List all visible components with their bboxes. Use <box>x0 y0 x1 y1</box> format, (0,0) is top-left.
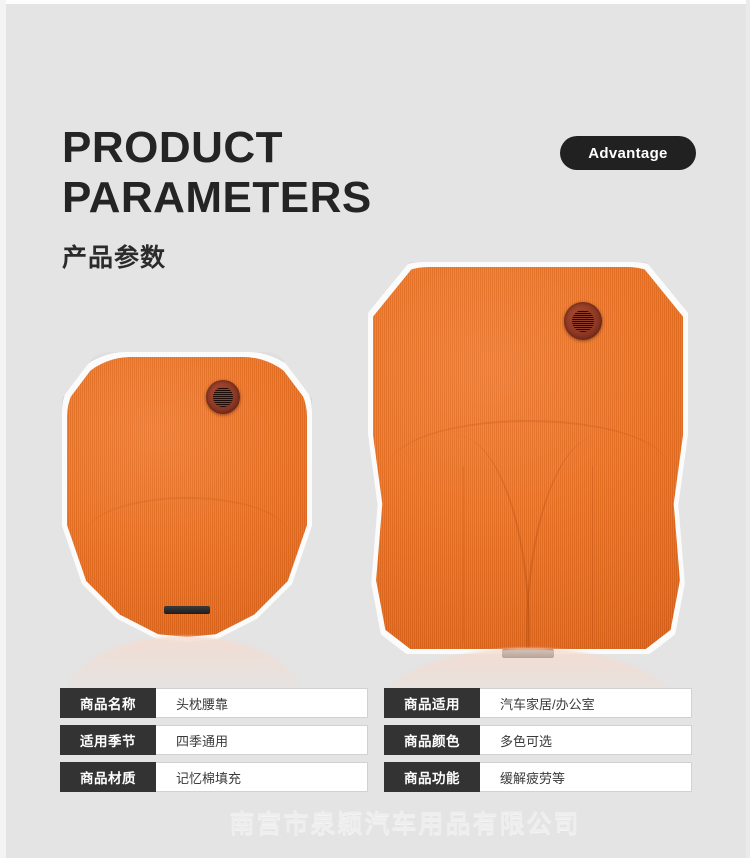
top-edge-strip <box>0 0 750 4</box>
company-watermark: 南宫市泉颖汽车用品有限公司 <box>0 804 750 840</box>
spec-label: 适用季节 <box>60 725 156 755</box>
spec-label: 商品适用 <box>384 688 480 718</box>
cushion-left-center-seam <box>463 466 464 642</box>
pillow-orange-fabric <box>67 357 307 637</box>
product-photo-headrest-pillow <box>62 352 312 642</box>
left-edge-strip <box>0 0 6 858</box>
table-row: 商品材质 记忆棉填充 <box>60 762 368 792</box>
spec-value: 记忆棉填充 <box>156 762 368 792</box>
page-title-block: PRODUCT PARAMETERS 产品参数 <box>62 126 372 274</box>
brand-emblem-icon <box>206 380 240 414</box>
title-subtitle-chinese: 产品参数 <box>62 238 372 274</box>
table-row: 商品适用 汽车家居/办公室 <box>384 688 692 718</box>
brand-emblem-icon <box>564 302 602 340</box>
cushion-orange-fabric <box>373 267 683 649</box>
table-row: 商品功能 缓解疲劳等 <box>384 762 692 792</box>
brand-emblem-core <box>213 387 233 407</box>
spec-column-left: 商品名称 头枕腰靠 适用季节 四季通用 商品材质 记忆棉填充 <box>60 688 368 792</box>
cushion-right-center-seam <box>592 466 593 642</box>
right-edge-strip <box>746 0 750 858</box>
product-photo-lumbar-cushion <box>368 262 688 654</box>
title-line-2: PARAMETERS <box>62 176 372 220</box>
advantage-badge-label: Advantage <box>588 145 667 162</box>
cushion-shoulder-seam <box>389 420 668 514</box>
advantage-badge: Advantage <box>560 136 696 170</box>
table-row: 商品颜色 多色可选 <box>384 725 692 755</box>
specification-table: 商品名称 头枕腰靠 适用季节 四季通用 商品材质 记忆棉填充 商品适用 汽车家居… <box>60 688 692 792</box>
brand-emblem-core <box>572 310 594 332</box>
spec-label: 商品颜色 <box>384 725 480 755</box>
table-row: 适用季节 四季通用 <box>60 725 368 755</box>
spec-value: 汽车家居/办公室 <box>480 688 692 718</box>
product-parameters-page: PRODUCT PARAMETERS 产品参数 Advantage <box>0 0 750 858</box>
spec-value: 头枕腰靠 <box>156 688 368 718</box>
table-row: 商品名称 头枕腰靠 <box>60 688 368 718</box>
title-line-1: PRODUCT <box>62 126 372 170</box>
spec-value: 四季通用 <box>156 725 368 755</box>
spec-value: 缓解疲劳等 <box>480 762 692 792</box>
spec-label: 商品名称 <box>60 688 156 718</box>
company-watermark-text: 南宫市泉颖汽车用品有限公司 <box>169 810 580 838</box>
spec-column-right: 商品适用 汽车家居/办公室 商品颜色 多色可选 商品功能 缓解疲劳等 <box>384 688 692 792</box>
spec-label: 商品材质 <box>60 762 156 792</box>
pillow-crease-seam <box>86 497 288 572</box>
spec-label: 商品功能 <box>384 762 480 792</box>
spec-value: 多色可选 <box>480 725 692 755</box>
pillow-strap-tab <box>164 606 210 614</box>
